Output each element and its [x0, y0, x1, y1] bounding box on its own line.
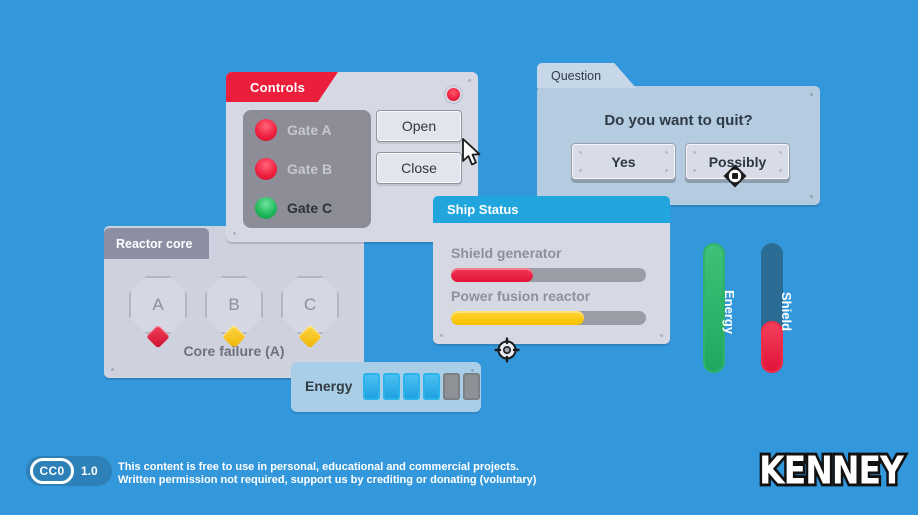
energy-cell: [463, 373, 480, 400]
gate-b-label: Gate B: [287, 161, 332, 177]
reactor-core-tab-label: Reactor core: [104, 237, 192, 251]
open-button[interactable]: Open: [376, 110, 462, 142]
energy-cell: [383, 373, 400, 400]
gate-b-status-light-icon: [255, 158, 277, 180]
game-ui-canvas: A B C Core failure (A) Reactor core Cont…: [0, 0, 918, 515]
gate-row-c[interactable]: Gate C: [243, 189, 371, 228]
core-slot-b[interactable]: B: [205, 276, 263, 334]
energy-cell: [363, 373, 380, 400]
cc0-license-mark: CC0: [30, 458, 74, 484]
yes-button[interactable]: Yes: [571, 143, 676, 180]
controls-window-title: Controls: [226, 80, 305, 95]
energy-bar-label: Energy: [305, 378, 352, 394]
power-fusion-reactor-label: Power fusion reactor: [451, 288, 590, 304]
energy-cell: [443, 373, 460, 400]
shield-generator-progressbar: [451, 268, 646, 282]
diamond-reticle-icon: [722, 163, 748, 194]
arrow-cursor-icon: [462, 138, 482, 173]
license-line-1: This content is free to use in personal,…: [118, 461, 536, 474]
license-line-2: Written permission not required, support…: [118, 474, 536, 487]
power-fusion-reactor-fill: [451, 311, 584, 325]
ship-status-panel: Ship Status Shield generator Power fusio…: [433, 196, 670, 344]
power-fusion-reactor-progressbar: [451, 311, 646, 325]
question-prompt: Do you want to quit?: [537, 112, 820, 129]
gate-row-a[interactable]: Gate A: [243, 110, 371, 149]
core-slot-a[interactable]: A: [129, 276, 187, 334]
shield-slider-label: Shield: [779, 292, 794, 331]
gate-row-b[interactable]: Gate B: [243, 149, 371, 188]
ship-status-titlebar: Ship Status: [433, 196, 670, 223]
close-button[interactable]: Close: [376, 152, 462, 184]
question-dialog-tab: Question: [537, 63, 636, 88]
license-description: This content is free to use in personal,…: [118, 461, 536, 487]
cc0-license-version: 1.0: [81, 464, 98, 478]
controls-window-titlebar: Controls: [226, 72, 338, 102]
core-status-text: Core failure (A): [104, 343, 364, 359]
kenney-logo: KENNEY: [766, 442, 896, 498]
shield-generator-fill: [451, 268, 533, 282]
cc0-license-badge: CC0 1.0: [26, 456, 112, 486]
gate-a-status-light-icon: [255, 119, 277, 141]
kenney-logo-text: KENNEY: [759, 448, 903, 493]
gate-a-label: Gate A: [287, 122, 332, 138]
round-reticle-icon: [494, 337, 520, 368]
shield-generator-label: Shield generator: [451, 245, 561, 261]
power-indicator-icon[interactable]: [445, 86, 462, 103]
gate-c-status-light-icon: [255, 197, 277, 219]
energy-cell: [403, 373, 420, 400]
question-dialog-tab-label: Question: [537, 69, 601, 83]
energy-cell: [423, 373, 440, 400]
ship-status-title: Ship Status: [433, 202, 519, 217]
gate-c-label: Gate C: [287, 200, 332, 216]
energy-slider-label: Energy: [722, 290, 737, 334]
energy-cell-group: [363, 373, 480, 400]
yes-button-label: Yes: [611, 154, 635, 170]
reactor-core-tab: Reactor core: [104, 228, 209, 259]
gate-list: Gate A Gate B Gate C: [243, 110, 371, 228]
core-slot-c[interactable]: C: [281, 276, 339, 334]
question-dialog: Do you want to quit? Yes Possibly: [537, 86, 820, 205]
energy-bar-panel: Energy: [291, 362, 481, 412]
